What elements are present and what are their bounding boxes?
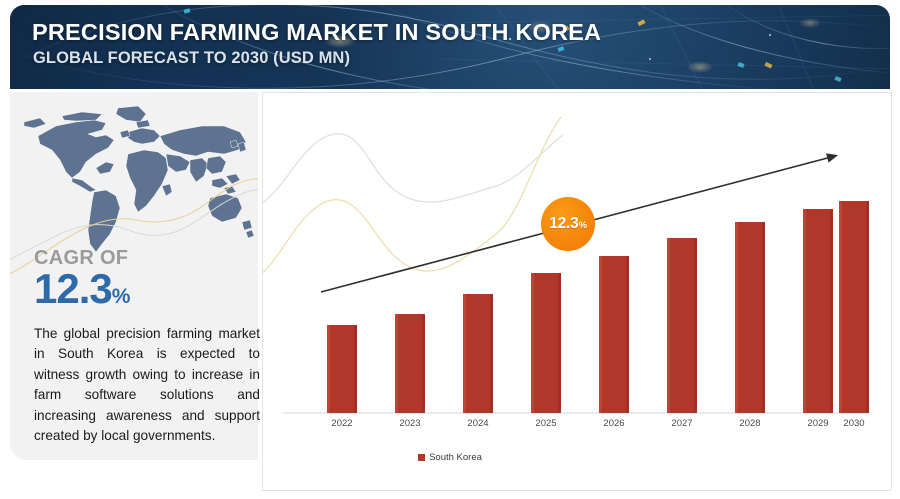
bar-2026 <box>599 256 629 413</box>
bar-series-south-korea <box>327 201 869 413</box>
decorative-waves <box>263 117 563 283</box>
bar-chart <box>263 93 891 490</box>
bar-2023 <box>395 314 425 413</box>
cagr-percent-sign: % <box>112 285 131 308</box>
cagr-callout-text: 12.3% <box>549 215 587 233</box>
legend-swatch-south-korea <box>418 454 425 461</box>
bar-2030 <box>839 201 869 413</box>
cagr-callout-value: 12.3 <box>549 215 578 232</box>
bar-2024 <box>463 294 493 413</box>
bar-2028 <box>735 222 765 413</box>
bar-2022 <box>327 325 357 413</box>
bar-2025 <box>531 273 561 413</box>
x-tick-2023: 2023 <box>387 418 433 429</box>
x-tick-2024: 2024 <box>455 418 501 429</box>
cagr-callout-unit: % <box>579 220 587 231</box>
page-title: PRECISION FARMING MARKET IN SOUTH KOREA <box>32 19 601 46</box>
cagr-number: 12.3 <box>34 265 112 312</box>
network-background-graphic <box>10 5 890 89</box>
legend-label-south-korea: South Korea <box>429 452 482 463</box>
infographic-page: PRECISION FARMING MARKET IN SOUTH KOREA … <box>0 0 900 499</box>
page-subtitle: GLOBAL FORECAST TO 2030 (USD MN) <box>33 49 350 68</box>
market-description: The global precision farming market in S… <box>34 324 260 446</box>
cagr-value: 12.3% <box>34 268 130 318</box>
bar-2027 <box>667 238 697 413</box>
x-tick-2028: 2028 <box>727 418 773 429</box>
x-tick-2030: 2030 <box>831 418 877 429</box>
x-tick-2027: 2027 <box>659 418 705 429</box>
x-tick-2025: 2025 <box>523 418 569 429</box>
chart-legend: South Korea <box>0 452 900 463</box>
x-tick-2022: 2022 <box>319 418 365 429</box>
bar-2029 <box>803 209 833 413</box>
summary-sidebar: CAGR OF 12.3% The global precision farmi… <box>10 92 258 460</box>
header-banner: PRECISION FARMING MARKET IN SOUTH KOREA … <box>10 5 890 89</box>
x-tick-2026: 2026 <box>591 418 637 429</box>
chart-panel: 2022 2023 2024 2025 2026 2027 2028 2029 … <box>262 92 892 491</box>
cagr-callout-bubble: 12.3% <box>541 197 595 251</box>
